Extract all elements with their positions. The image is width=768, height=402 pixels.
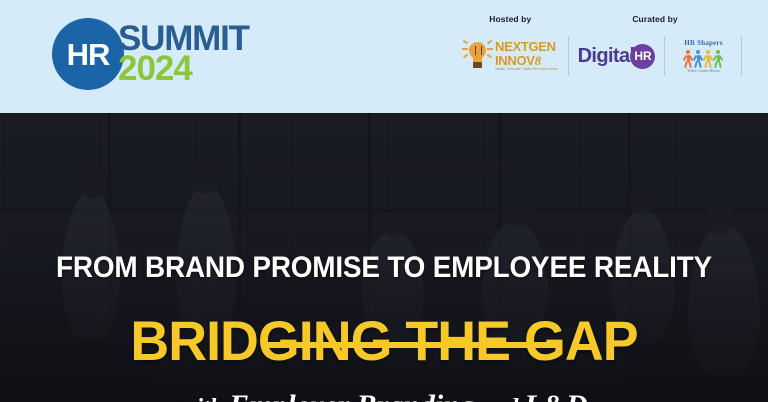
subtitle-main: Employer Branding bbox=[229, 389, 475, 402]
hr-summit-logo: HR SUMMIT 2024 bbox=[52, 18, 249, 90]
nextgen-innov8-logo: NEXTGEN INNOV8 Ideate. Innovate. Make th… bbox=[462, 39, 559, 73]
strikethrough-bar bbox=[267, 342, 561, 348]
header-band: HR SUMMIT 2024 Hosted by N bbox=[0, 0, 768, 113]
digitalhr-badge-text: HR bbox=[634, 49, 651, 63]
big-headline: BRIDGING THE GAP bbox=[15, 308, 752, 373]
headline-text: FROM BRAND PROMISE TO EMPLOYEE REALITY bbox=[27, 251, 741, 285]
hero-section: FROM BRAND PROMISE TO EMPLOYEE REALITY B… bbox=[0, 113, 768, 402]
event-banner: HR SUMMIT 2024 Hosted by N bbox=[0, 0, 768, 402]
digitalhr-word: Digital bbox=[578, 45, 635, 68]
curated-by-label: Curated by bbox=[632, 14, 677, 24]
hr-shapers-title: HR Shapers bbox=[684, 39, 722, 47]
hosted-by-label: Hosted by bbox=[489, 14, 531, 24]
subtitle-script: with Employer Branding and L&D bbox=[0, 389, 768, 402]
nextgen-line1: NEXTGEN bbox=[495, 40, 559, 53]
brand-divider bbox=[664, 36, 665, 76]
digitalhr-logo: Digital HR bbox=[578, 44, 656, 69]
hr-badge-text: HR bbox=[67, 39, 110, 70]
sponsor-divider bbox=[568, 36, 569, 76]
digitalhr-badge-icon: HR bbox=[630, 44, 655, 69]
big-headline-text: BRIDGING THE GAP bbox=[130, 309, 637, 372]
summit-wordmark: SUMMIT 2024 bbox=[118, 24, 249, 84]
hero-content: FROM BRAND PROMISE TO EMPLOYEE REALITY B… bbox=[0, 113, 768, 402]
nextgen-tagline: Ideate. Innovate. Make the world better. bbox=[495, 68, 559, 71]
subtitle-join: and bbox=[475, 395, 524, 402]
subtitle-suffix: L&D bbox=[524, 389, 587, 402]
people-figures-icon bbox=[683, 48, 723, 68]
sponsor-group-curated-by: Curated by Digital HR HR Shapers bbox=[578, 14, 733, 82]
nextgen-line2: INNOV8 bbox=[495, 54, 559, 67]
summit-year: 2024 bbox=[118, 54, 249, 84]
sponsor-strip: Hosted by NEXTGEN INNOV8 Ideate. Innovat… bbox=[462, 14, 762, 100]
subtitle-prefix: with bbox=[180, 395, 229, 402]
sponsor-divider-end bbox=[741, 36, 742, 76]
lightbulb-icon bbox=[462, 39, 492, 73]
sponsor-group-hosted-by: Hosted by NEXTGEN INNOV8 Ideate. Innovat… bbox=[462, 14, 559, 82]
hr-badge-icon: HR bbox=[52, 18, 124, 90]
hr-shapers-logo: HR Shapers Where Careers Bloom bbox=[674, 39, 732, 73]
hr-shapers-tagline: Where Careers Bloom bbox=[687, 69, 719, 73]
